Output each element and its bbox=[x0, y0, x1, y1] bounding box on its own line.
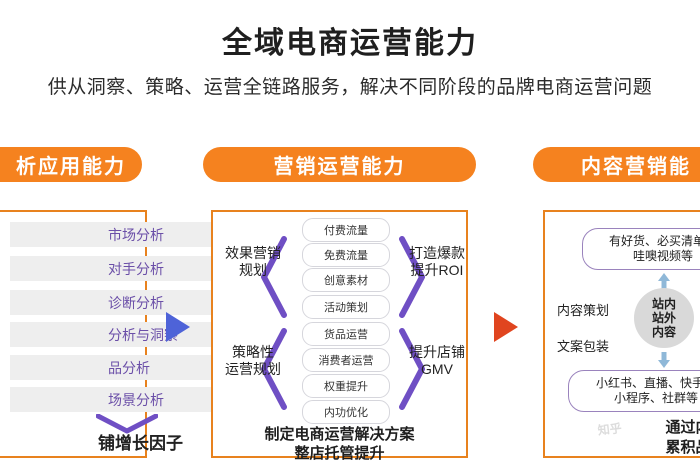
label-line-1: 提升店铺 bbox=[409, 344, 465, 360]
column-header-analysis: 析应用能力 bbox=[0, 147, 142, 182]
content-marketing-footer: 通过内容种草 累积品牌资产 bbox=[543, 418, 700, 458]
footer-line-1: 通过内容种草 bbox=[665, 419, 700, 436]
pill-line-2: 小程序、社群等 bbox=[614, 391, 698, 405]
tag-pill: 免费流量 bbox=[302, 243, 390, 267]
flow-arrow-marketing-to-content-icon bbox=[494, 312, 518, 342]
content-channels-pill-bottom: 小红书、直播、快手、 小程序、社群等 bbox=[568, 370, 700, 412]
circle-onsite-offsite-content: 站内 站外 内容 bbox=[634, 288, 694, 348]
marketing-ops-footer-line-1: 制定电商运营解决方案 bbox=[211, 425, 468, 444]
tag-pill: 活动策划 bbox=[302, 295, 390, 319]
label-line-1: 效果营销 bbox=[225, 245, 281, 261]
circle-line-1: 站内 bbox=[652, 297, 676, 311]
label-line-2: 规划 bbox=[239, 262, 267, 278]
tag-pill: 付费流量 bbox=[302, 218, 390, 242]
label-line-1: 策略性 bbox=[232, 344, 274, 360]
content-channels-pill-top: 有好货、必买清单、 哇噢视频等 bbox=[582, 228, 700, 270]
tag-pill: 创意素材 bbox=[302, 268, 390, 292]
label-boost-gmv: 提升店铺 GMV bbox=[400, 344, 474, 378]
infographic-canvas: 全域电商运营能力 供从洞察、策略、运营全链路服务，解决不同阶段的品牌电商运营问题… bbox=[0, 0, 700, 470]
label-strategic-ops-plan: 策略性 运营规划 bbox=[216, 344, 290, 378]
tag-pill: 权重提升 bbox=[302, 374, 390, 398]
label-effect-marketing-plan: 效果营销 规划 bbox=[216, 245, 290, 279]
pill-line-1: 有好货、必买清单、 bbox=[609, 234, 700, 248]
circle-line-3: 内容 bbox=[652, 325, 676, 339]
label-boost-roi: 打造爆款 提升ROI bbox=[400, 245, 474, 279]
flow-arrow-analysis-to-marketing-icon bbox=[166, 312, 190, 342]
column-header-marketing-ops: 营销运营能力 bbox=[203, 147, 476, 182]
label-content-planning: 内容策划 bbox=[557, 300, 609, 319]
label-line-1: 打造爆款 bbox=[409, 245, 465, 261]
label-line-2: GMV bbox=[421, 361, 453, 377]
circle-line-2: 站外 bbox=[652, 311, 676, 325]
label-line-2: 运营规划 bbox=[225, 361, 281, 377]
tag-pill: 内功优化 bbox=[302, 400, 390, 424]
page-title: 全域电商运营能力 bbox=[0, 18, 700, 62]
footer-line-2: 累积品牌资产 bbox=[665, 439, 700, 456]
pill-line-1: 小红书、直播、快手、 bbox=[596, 376, 700, 390]
label-copy-packaging: 文案包装 bbox=[557, 336, 609, 355]
arrow-down-icon bbox=[657, 351, 671, 369]
tag-pill: 货品运营 bbox=[302, 322, 390, 346]
pill-line-2: 哇噢视频等 bbox=[633, 249, 693, 263]
label-line-2: 提升ROI bbox=[411, 262, 464, 278]
marketing-ops-footer-line-2: 整店托管提升 bbox=[211, 444, 468, 463]
column-header-content-marketing: 内容营销能 bbox=[533, 147, 700, 182]
page-subtitle: 供从洞察、策略、运营全链路服务，解决不同阶段的品牌电商运营问题 bbox=[0, 72, 700, 99]
tag-pill: 消费者运营 bbox=[302, 348, 390, 372]
